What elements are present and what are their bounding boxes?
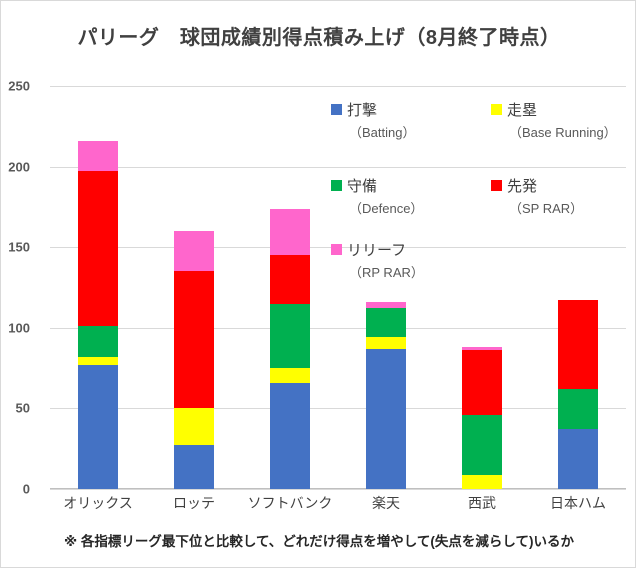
chart-footnote: ※ 各指標リーグ最下位と比較して、どれだけ得点を増やして(失点を減らして)いるか — [1, 530, 636, 550]
stacked-bar[interactable] — [174, 231, 214, 489]
stacked-bar[interactable] — [558, 300, 598, 489]
bar-segment[interactable] — [174, 231, 214, 271]
legend-item[interactable]: 守備（Defence） — [331, 175, 423, 217]
bar-segment[interactable] — [558, 429, 598, 489]
legend-label: 守備 — [347, 178, 377, 195]
bar-segment[interactable] — [366, 337, 406, 348]
bar-group[interactable]: ロッテ — [146, 86, 242, 489]
bar-segment[interactable] — [366, 308, 406, 337]
x-tick-label: オリックス — [63, 493, 133, 513]
legend-item[interactable]: 打撃（Batting） — [331, 99, 415, 141]
bar-segment[interactable] — [558, 389, 598, 429]
legend: 打撃（Batting）走塁（Base Running）守備（Defence）先発… — [331, 99, 621, 274]
bar-segment[interactable] — [78, 365, 118, 489]
bar-segment[interactable] — [366, 349, 406, 489]
bar-segment[interactable] — [78, 141, 118, 172]
bar-segment[interactable] — [270, 209, 310, 256]
legend-sublabel: （Batting） — [349, 122, 415, 141]
chart-title: パリーグ 球団成績別得点積み上げ（8月終了時点） — [1, 21, 636, 50]
y-tick-label: 200 — [0, 159, 30, 174]
bar-segment[interactable] — [270, 255, 310, 303]
bar-segment[interactable] — [270, 368, 310, 383]
legend-label: 打撃 — [347, 102, 377, 119]
y-tick-label: 100 — [0, 320, 30, 335]
x-tick-label: 楽天 — [372, 493, 400, 513]
chart-page: パリーグ 球団成績別得点積み上げ（8月終了時点） 050100150200250… — [0, 0, 636, 568]
y-tick-label: 0 — [0, 482, 30, 497]
bar-group[interactable]: オリックス — [50, 86, 146, 489]
legend-swatch-icon — [331, 180, 342, 191]
legend-item[interactable]: リリーフ（RP RAR） — [331, 239, 424, 281]
legend-label: リリーフ — [347, 242, 406, 259]
x-tick-label: 西武 — [468, 493, 496, 513]
bar-segment[interactable] — [462, 415, 502, 475]
bar-segment[interactable] — [174, 408, 214, 445]
bar-segment[interactable] — [558, 300, 598, 389]
gridline-0 — [50, 489, 626, 490]
bar-segment[interactable] — [174, 271, 214, 408]
x-tick-label: ロッテ — [173, 493, 215, 513]
legend-swatch-icon — [491, 104, 502, 115]
legend-sublabel: （RP RAR） — [349, 262, 424, 281]
legend-sublabel: （Defence） — [349, 198, 423, 217]
legend-item[interactable]: 先発（SP RAR） — [491, 175, 583, 217]
x-tick-label: ソフトバンク — [248, 493, 333, 513]
stacked-bar[interactable] — [78, 141, 118, 489]
legend-label: 先発 — [507, 178, 537, 195]
bar-segment[interactable] — [462, 350, 502, 414]
bar-segment[interactable] — [270, 383, 310, 489]
legend-sublabel: （SP RAR） — [509, 198, 583, 217]
bar-segment[interactable] — [174, 445, 214, 489]
bar-segment[interactable] — [78, 171, 118, 326]
legend-swatch-icon — [331, 104, 342, 115]
bar-segment[interactable] — [462, 475, 502, 490]
stacked-bar[interactable] — [366, 302, 406, 489]
legend-swatch-icon — [491, 180, 502, 191]
bar-segment[interactable] — [78, 357, 118, 365]
stacked-bar[interactable] — [270, 209, 310, 489]
y-tick-label: 250 — [0, 79, 30, 94]
legend-item[interactable]: 走塁（Base Running） — [491, 99, 617, 141]
y-tick-label: 150 — [0, 240, 30, 255]
legend-sublabel: （Base Running） — [509, 122, 617, 141]
bar-segment[interactable] — [270, 304, 310, 368]
legend-label: 走塁 — [507, 102, 537, 119]
legend-swatch-icon — [331, 244, 342, 255]
x-tick-label: 日本ハム — [550, 493, 606, 513]
y-tick-label: 50 — [0, 401, 30, 416]
bar-group[interactable]: ソフトバンク — [242, 86, 338, 489]
bar-segment[interactable] — [78, 326, 118, 357]
stacked-bar[interactable] — [462, 347, 502, 489]
